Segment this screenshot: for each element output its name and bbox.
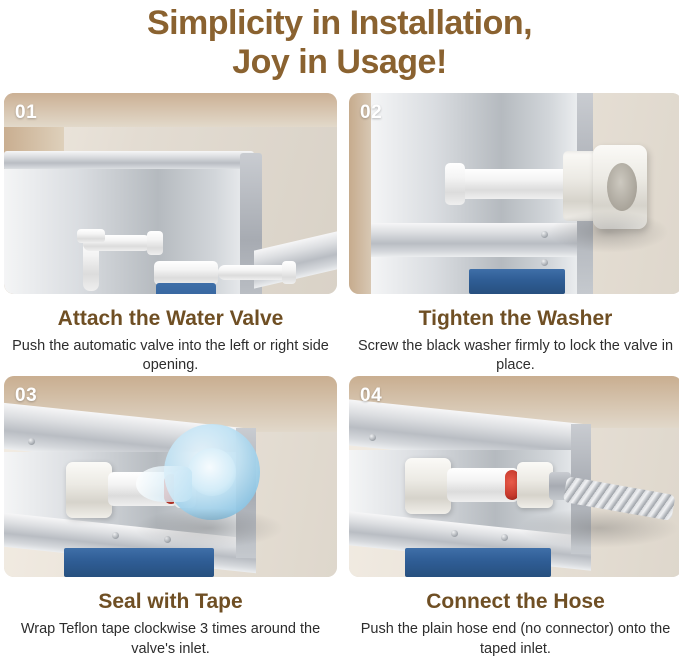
step-body-04: Push the plain hose end (no connector) o… — [349, 620, 679, 659]
step-title-03: Seal with Tape — [4, 590, 337, 614]
step-badge-04: 04 — [360, 385, 382, 407]
hose-shadow — [519, 508, 679, 548]
screw-icon — [451, 530, 458, 537]
teflon-tape-core — [188, 448, 236, 496]
step-title-04: Connect the Hose — [349, 590, 679, 614]
blue-canister-bottom — [64, 548, 214, 577]
page-title: Simplicity in Installation, Joy in Usage… — [0, 0, 679, 93]
headline-line-2: Joy in Usage! — [20, 43, 659, 82]
valve-outlet-tip — [282, 261, 296, 284]
step-title-02: Tighten the Washer — [349, 307, 679, 331]
tank-rim — [4, 151, 254, 171]
washer-bore — [607, 163, 637, 211]
blue-canister-bottom — [469, 269, 565, 294]
washer-hex-face — [66, 462, 112, 518]
step-card-02: 02 Tighten the Washer Screw the black wa… — [349, 93, 679, 376]
washer-hex-face — [405, 458, 451, 514]
step-card-01: 01 Attach the Water Valve Push the autom… — [4, 93, 337, 376]
valve-outlet-pipe — [218, 265, 288, 280]
elbow-joint — [147, 231, 163, 255]
screw-icon — [112, 532, 119, 539]
step-badge-02: 02 — [360, 102, 382, 124]
step-04-photo: 04 — [349, 376, 679, 577]
infographic-page: Simplicity in Installation, Joy in Usage… — [0, 0, 679, 667]
steps-grid: 01 Attach the Water Valve Push the autom… — [0, 93, 679, 659]
tan-wall-top — [4, 93, 337, 127]
tape-shadow — [134, 508, 284, 548]
valve-inlet-pipe — [449, 169, 575, 199]
valve-canister — [156, 283, 216, 294]
elbow-collar — [77, 229, 105, 243]
hose-connector-nut — [517, 462, 553, 508]
step-body-03: Wrap Teflon tape clockwise 3 times aroun… — [4, 620, 337, 659]
step-body-01: Push the automatic valve into the left o… — [4, 337, 337, 376]
step-01-photo: 01 — [4, 93, 337, 294]
headline-line-1: Simplicity in Installation, — [147, 4, 532, 42]
blue-canister-bottom — [405, 548, 551, 577]
screw-icon — [369, 434, 376, 441]
screw-icon — [541, 231, 548, 238]
step-badge-01: 01 — [15, 102, 37, 124]
washer-shadow — [549, 211, 669, 253]
pipe-collar — [445, 163, 465, 205]
teflon-tape-strip — [136, 466, 192, 502]
step-02-photo: 02 — [349, 93, 679, 294]
screw-icon — [28, 438, 35, 445]
step-card-03: 03 Seal with Tape Wrap Teflon tape clock… — [4, 376, 337, 659]
step-03-photo: 03 — [4, 376, 337, 577]
screw-icon — [501, 534, 508, 541]
valve-cap — [154, 261, 218, 285]
step-body-02: Screw the black washer firmly to lock th… — [349, 337, 679, 376]
step-card-04: 04 Connect the Hose Push the plain hose … — [349, 376, 679, 659]
step-title-01: Attach the Water Valve — [4, 307, 337, 331]
step-badge-03: 03 — [15, 385, 37, 407]
screw-icon — [541, 259, 548, 266]
